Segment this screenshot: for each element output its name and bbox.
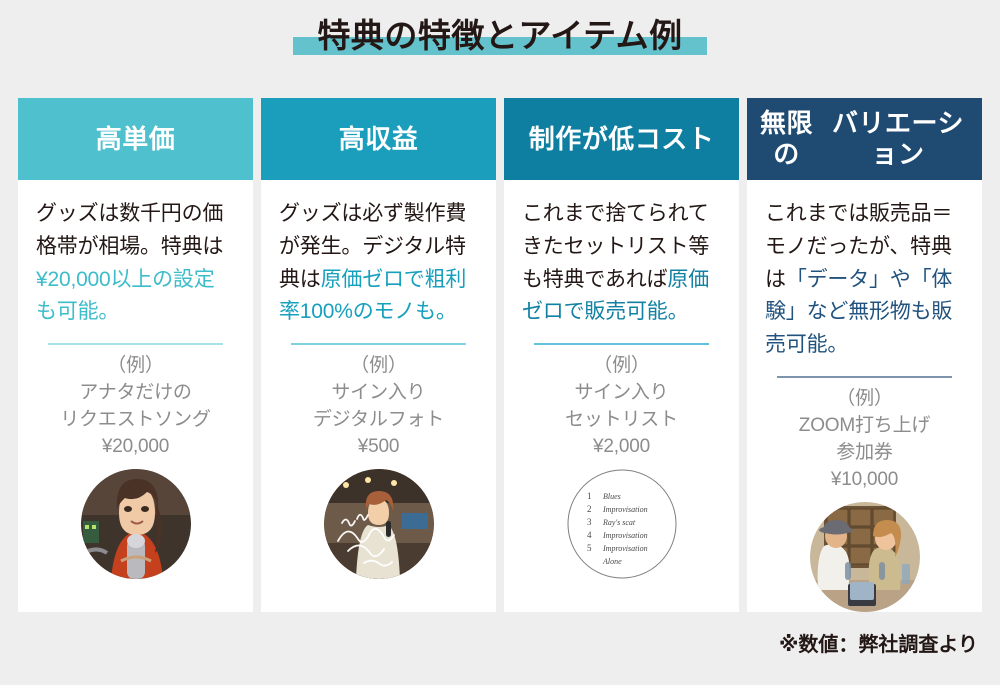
- feature-card-body: これまで捨てられてきたセットリスト等も特典であれば原価ゼロで販売可能。: [504, 180, 739, 329]
- feature-card: 高単価グッズは数千円の価格帯が相場。特典は¥20,000以上の設定も可能。（例）…: [18, 98, 253, 612]
- thumbnail-wrap: [261, 461, 496, 612]
- svg-text:2: 2: [587, 504, 592, 514]
- example-block: （例）ZOOM打ち上げ参加券¥10,000: [747, 378, 982, 494]
- thumbnail-wrap: 1Blues2Improvisation3Ray's scat4Improvis…: [504, 461, 739, 612]
- feature-card-header: 無限のバリエーション: [747, 98, 982, 180]
- singer-with-microphone-photo: [81, 469, 191, 579]
- svg-text:4: 4: [587, 530, 592, 540]
- feature-body-accent: ¥20,000以上の設定も可能。: [36, 268, 215, 324]
- handwritten-setlist-note: 1Blues2Improvisation3Ray's scat4Improvis…: [567, 469, 677, 579]
- feature-columns: 高単価グッズは数千円の価格帯が相場。特典は¥20,000以上の設定も可能。（例）…: [18, 98, 982, 612]
- footnote: ※数値：弊社調査より: [779, 628, 978, 657]
- example-label: （例）: [28, 353, 243, 380]
- section-divider-wrap: [504, 329, 739, 345]
- svg-text:3: 3: [587, 517, 592, 527]
- feature-card: 高収益グッズは必ず製作費が発生。デジタル特典は原価ゼロで粗利率100%のモノも。…: [261, 98, 496, 612]
- signed-digital-photo: [324, 469, 434, 579]
- feature-body-accent: 「データ」や「体験」など無形物も販売可能。: [765, 268, 952, 357]
- svg-text:5: 5: [587, 543, 592, 553]
- section-divider-wrap: [747, 362, 982, 378]
- svg-text:Improvisation: Improvisation: [602, 531, 648, 540]
- feature-card-body: グッズは必ず製作費が発生。デジタル特典は原価ゼロで粗利率100%のモノも。: [261, 180, 496, 329]
- example-name: ZOOM打ち上げ参加券: [757, 413, 972, 467]
- infographic-page: 特典の特徴とアイテム例 高単価グッズは数千円の価格帯が相場。特典は¥20,000…: [0, 0, 1000, 685]
- example-block: （例）サイン入りデジタルフォト¥500: [261, 345, 496, 461]
- example-name: サイン入りデジタルフォト: [271, 380, 486, 434]
- svg-text:Improvisation: Improvisation: [602, 544, 648, 553]
- example-label: （例）: [271, 353, 486, 380]
- thumbnail-wrap: [747, 494, 982, 612]
- svg-text:Improvisation: Improvisation: [602, 505, 648, 514]
- feature-card-header: 制作が低コスト: [504, 98, 739, 180]
- svg-text:Alone: Alone: [602, 557, 622, 566]
- signed-digital-photo: [324, 469, 434, 579]
- page-title-text: 特典の特徴とアイテム例: [317, 17, 682, 54]
- svg-text:1: 1: [587, 491, 592, 501]
- example-price: ¥20,000: [28, 434, 243, 461]
- svg-text:Ray's scat: Ray's scat: [602, 518, 636, 527]
- example-price: ¥10,000: [757, 467, 972, 494]
- feature-card-header: 高収益: [261, 98, 496, 180]
- example-name: アナタだけのリクエストソング: [28, 380, 243, 434]
- singer-with-microphone-photo: [81, 469, 191, 579]
- feature-card: 制作が低コストこれまで捨てられてきたセットリスト等も特典であれば原価ゼロで販売可…: [504, 98, 739, 612]
- feature-card: 無限のバリエーションこれまでは販売品＝モノだったが、特典は「データ」や「体験」な…: [747, 98, 982, 612]
- feature-card-header: 高単価: [18, 98, 253, 180]
- handwritten-setlist-note: 1Blues2Improvisation3Ray's scat4Improvis…: [567, 469, 677, 579]
- example-name: サイン入りセットリスト: [514, 380, 729, 434]
- example-block: （例）サイン入りセットリスト¥2,000: [504, 345, 739, 461]
- example-label: （例）: [757, 386, 972, 413]
- feature-card-body: これまでは販売品＝モノだったが、特典は「データ」や「体験」など無形物も販売可能。: [747, 180, 982, 362]
- section-divider-wrap: [261, 329, 496, 345]
- page-title: 特典の特徴とアイテム例: [0, 14, 1000, 59]
- feature-card-body: グッズは数千円の価格帯が相場。特典は¥20,000以上の設定も可能。: [18, 180, 253, 329]
- example-block: （例）アナタだけのリクエストソング¥20,000: [18, 345, 253, 461]
- svg-text:Blues: Blues: [603, 492, 621, 501]
- example-label: （例）: [514, 353, 729, 380]
- example-price: ¥2,000: [514, 434, 729, 461]
- zoom-party-photo: [810, 502, 920, 612]
- zoom-party-photo: [810, 502, 920, 612]
- section-divider-wrap: [18, 329, 253, 345]
- example-price: ¥500: [271, 434, 486, 461]
- thumbnail-wrap: [18, 461, 253, 612]
- feature-body-plain: グッズは数千円の価格帯が相場。特典は: [36, 202, 223, 258]
